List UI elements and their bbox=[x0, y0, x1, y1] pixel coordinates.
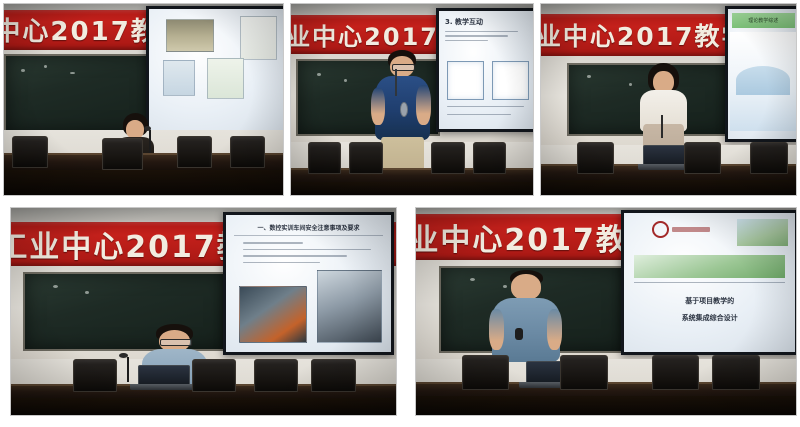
slide-banner-image bbox=[737, 219, 788, 247]
chair bbox=[177, 136, 212, 169]
laptop-base bbox=[638, 164, 689, 170]
chair bbox=[230, 136, 265, 169]
microphone-head bbox=[144, 126, 151, 131]
chair bbox=[192, 359, 236, 392]
chair bbox=[12, 136, 47, 169]
slide-box bbox=[492, 61, 529, 101]
logo-wordmark bbox=[672, 227, 710, 232]
photo-bottom-right: 业中心2017教学工 基于项目教学的 系统集成综合设计 bbox=[415, 207, 797, 416]
slide-thumb-3 bbox=[163, 60, 195, 96]
head bbox=[511, 274, 541, 300]
chair bbox=[577, 142, 615, 175]
university-logo-icon bbox=[652, 221, 669, 238]
slide-thumb-1 bbox=[166, 19, 214, 53]
head bbox=[126, 120, 144, 139]
desk-front bbox=[4, 170, 283, 195]
desk-front bbox=[541, 180, 796, 195]
chair bbox=[311, 359, 355, 392]
microphone-stand bbox=[395, 69, 397, 96]
chair bbox=[560, 355, 608, 390]
projection-screen: 理论教学综述 bbox=[725, 6, 796, 142]
desk-front bbox=[11, 398, 396, 415]
chair bbox=[349, 142, 382, 175]
chair bbox=[684, 142, 722, 175]
chair bbox=[308, 142, 341, 175]
slide-content: 3. 教学互动 bbox=[439, 11, 533, 129]
slide-green-header: 理论教学综述 bbox=[732, 13, 795, 29]
slide-content bbox=[149, 9, 283, 131]
photo-bottom-left: 工业中心2017教学工 一、数控实训车间安全注意事项及要求 bbox=[10, 207, 397, 416]
chair bbox=[750, 142, 788, 175]
chair bbox=[431, 142, 464, 175]
projection-screen: 一、数控实训车间安全注意事项及要求 bbox=[223, 212, 395, 355]
chair bbox=[102, 138, 143, 171]
chair bbox=[712, 355, 760, 390]
slide-hill-graphic bbox=[736, 66, 790, 95]
slide-title-line1: 基于项目教学的 bbox=[624, 296, 795, 306]
laptop-base bbox=[130, 384, 195, 390]
projection-screen bbox=[146, 6, 283, 134]
desk-front bbox=[291, 182, 533, 195]
chair bbox=[254, 359, 298, 392]
chair bbox=[473, 142, 506, 175]
microphone-stand bbox=[661, 115, 663, 138]
slide-box bbox=[447, 61, 484, 101]
laptop-screen bbox=[643, 145, 686, 166]
microphone-stand bbox=[127, 357, 129, 382]
slide-photo-2 bbox=[317, 270, 382, 343]
laptop-screen bbox=[138, 365, 190, 386]
microphone-head bbox=[119, 353, 128, 358]
arm-left bbox=[371, 88, 385, 126]
slide-strip-image bbox=[634, 255, 784, 279]
slide-title: 一、数控实训车间安全注意事项及要求 bbox=[234, 223, 383, 236]
arm-right bbox=[547, 309, 562, 350]
slide-thumb-4 bbox=[207, 58, 245, 99]
glasses bbox=[160, 339, 192, 346]
photo-top-left: 中心2017教学工 bbox=[3, 3, 284, 196]
slide-content: 基于项目教学的 系统集成综合设计 bbox=[624, 213, 795, 352]
chair bbox=[462, 355, 510, 390]
slide-content: 一、数控实训车间安全注意事项及要求 bbox=[226, 215, 392, 352]
slide-photo-1 bbox=[239, 286, 307, 343]
lanyard bbox=[400, 102, 408, 117]
arm-left bbox=[489, 309, 504, 350]
microphone-head bbox=[515, 328, 523, 340]
desk-front bbox=[416, 396, 796, 415]
photo-collage: 中心2017教学工 bbox=[0, 0, 800, 427]
slide-title-line2: 系统集成综合设计 bbox=[624, 313, 795, 323]
projection-screen: 3. 教学互动 bbox=[436, 8, 533, 132]
photo-top-right: 业中心2017教学工 理论教学综述 bbox=[540, 3, 797, 196]
arm-right bbox=[416, 85, 431, 126]
projection-screen: 基于项目教学的 系统集成综合设计 bbox=[621, 210, 796, 355]
photo-top-center: 业中心2017教学工 3. 教学互动 bbox=[290, 3, 534, 196]
chair bbox=[652, 355, 700, 390]
slide-thumb-2 bbox=[240, 16, 278, 60]
slide-title: 3. 教学互动 bbox=[445, 17, 530, 27]
chair bbox=[73, 359, 117, 392]
